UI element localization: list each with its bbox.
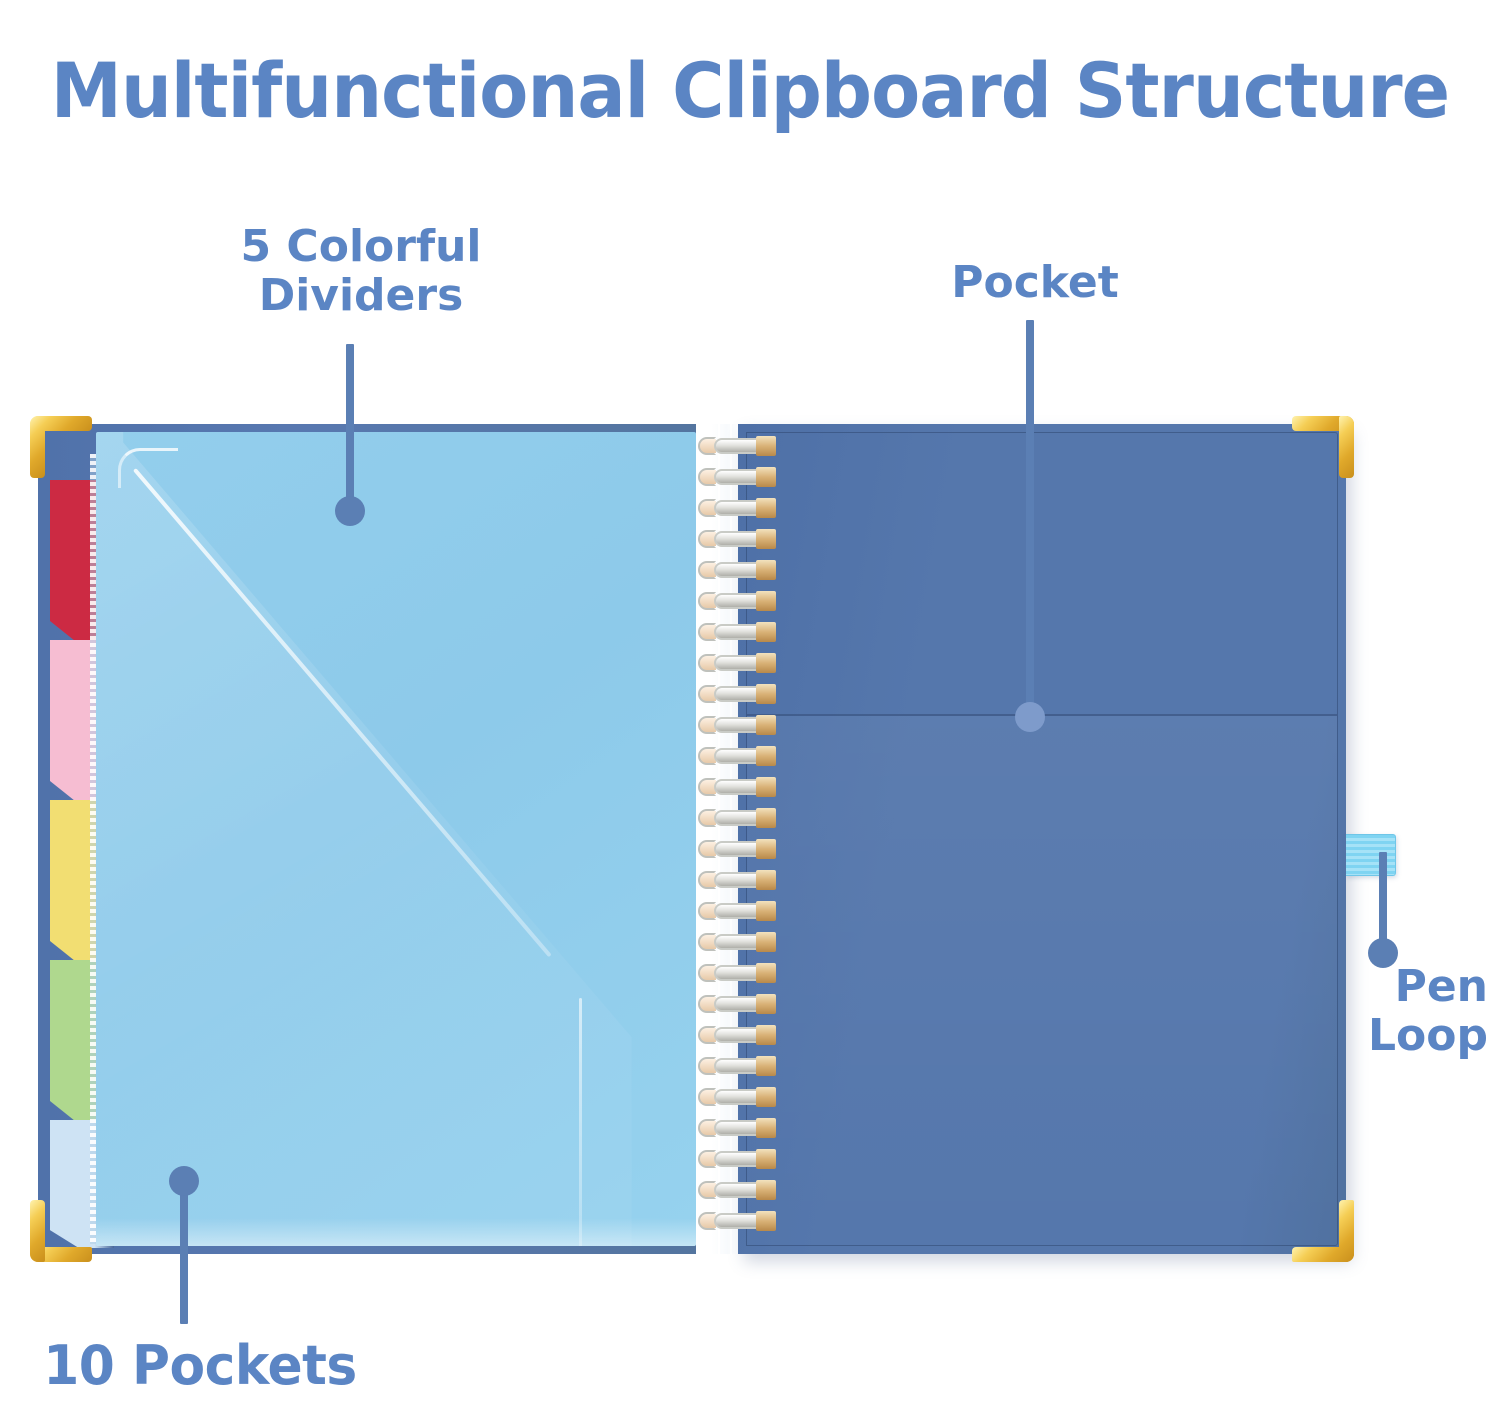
- spiral-coil: [698, 1118, 776, 1138]
- clipboard-illustration: [38, 424, 1346, 1254]
- spiral-coil: [698, 870, 776, 890]
- spiral-coil: [698, 1025, 776, 1045]
- page-title: Multifunctional Clipboard Structure: [45, 46, 1455, 135]
- spiral-coil: [698, 467, 776, 487]
- spiral-coil: [698, 436, 776, 456]
- leader-line-dividers: [346, 344, 354, 514]
- spiral-coil: [698, 560, 776, 580]
- corner-protector-top-right: [1292, 416, 1354, 478]
- spiral-coil: [698, 622, 776, 642]
- folder-diagonal-fold: [136, 468, 656, 1168]
- right-cover-page: [738, 424, 1346, 1254]
- leader-dot-pocket: [1015, 702, 1045, 732]
- translucent-pocket-folder: [96, 432, 696, 1246]
- spiral-coil: [698, 1211, 776, 1231]
- spiral-coil: [698, 746, 776, 766]
- spiral-coil: [698, 684, 776, 704]
- leader-line-pocket: [1026, 320, 1034, 720]
- callout-label-ten-pockets: 10 Pockets: [27, 1336, 373, 1396]
- pen-loop-elastic: [1346, 834, 1396, 876]
- corner-protector-bottom-right: [1292, 1200, 1354, 1262]
- callout-label-pen-loop: Pen Loop: [1200, 962, 1488, 1061]
- spiral-coil: [698, 963, 776, 983]
- spiral-coil: [698, 901, 776, 921]
- spiral-coil: [698, 839, 776, 859]
- infographic-canvas: Multifunctional Clipboard Structure: [0, 0, 1500, 1406]
- corner-protector-top-left: [30, 416, 92, 478]
- spiral-coil: [698, 498, 776, 518]
- corner-protector-bottom-left: [30, 1200, 92, 1262]
- spiral-coil: [698, 1180, 776, 1200]
- spiral-coil: [698, 715, 776, 735]
- spiral-coil: [698, 1087, 776, 1107]
- spiral-coil: [698, 994, 776, 1014]
- spiral-coil: [698, 653, 776, 673]
- spiral-coil: [698, 1149, 776, 1169]
- spiral-coil: [698, 808, 776, 828]
- leader-dot-dividers: [335, 496, 365, 526]
- spiral-binding-coils: [684, 436, 794, 1242]
- leader-line-ten-pockets: [180, 1180, 188, 1324]
- callout-label-pocket: Pocket: [880, 258, 1190, 307]
- spiral-coil: [698, 591, 776, 611]
- folder-rounded-corner: [118, 448, 178, 488]
- callout-label-dividers: 5 Colorful Dividers: [186, 222, 536, 321]
- spiral-coil: [698, 1056, 776, 1076]
- leader-dot-ten-pockets: [169, 1166, 199, 1196]
- spiral-coil: [698, 529, 776, 549]
- spiral-coil: [698, 777, 776, 797]
- spiral-coil: [698, 932, 776, 952]
